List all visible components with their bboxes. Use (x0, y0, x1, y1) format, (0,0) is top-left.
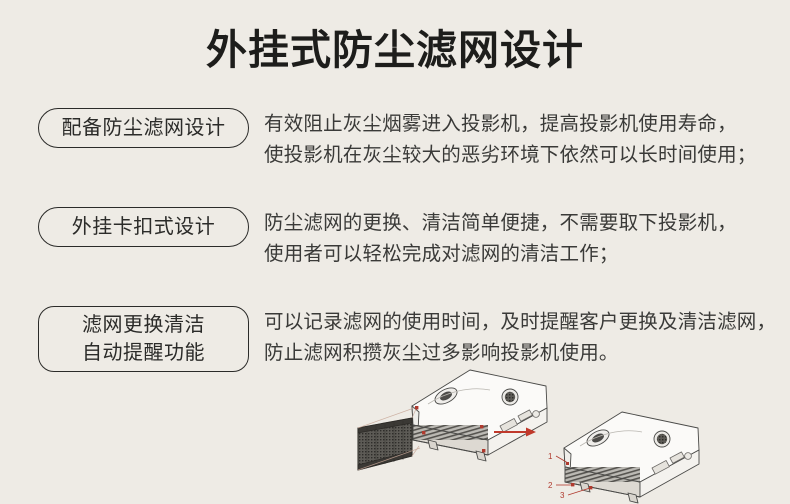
feature-list: 配备防尘滤网设计 有效阻止灰尘烟雾进入投影机，提高投影机使用寿命， 使投影机在灰… (0, 108, 790, 372)
left-projector (412, 370, 547, 461)
feature-text-line: 使投影机在灰尘较大的恶劣环境下依然可以长时间使用； (264, 140, 790, 171)
feature-text-line: 可以记录滤网的使用时间，及时提醒客户更换及清洁滤网， (264, 307, 790, 338)
feature-label-badge-1: 配备防尘滤网设计 (38, 108, 249, 148)
feature-text-line: 防尘滤网的更换、清洁简单便捷，不需要取下投影机， (264, 208, 790, 239)
page-title: 外挂式防尘滤网设计 (0, 26, 790, 74)
projector-illustration: 1 2 3 (350, 352, 790, 504)
right-projector (564, 412, 699, 503)
feature-label-badge-2: 外挂卡扣式设计 (38, 207, 249, 247)
feature-row: 外挂卡扣式设计 防尘滤网的更换、清洁简单便捷，不需要取下投影机， 使用者可以轻松… (0, 207, 790, 270)
projector-diagram-svg: 1 2 3 (350, 352, 790, 504)
page-root: 外挂式防尘滤网设计 配备防尘滤网设计 有效阻止灰尘烟雾进入投影机，提高投影机使用… (0, 0, 790, 504)
callout-number: 1 (548, 452, 553, 461)
feature-text-line: 有效阻止灰尘烟雾进入投影机，提高投影机使用寿命， (264, 109, 790, 140)
feature-label-badge-3: 滤网更换清洁 自动提醒功能 (38, 306, 249, 372)
feature-label-line: 自动提醒功能 (82, 339, 205, 367)
feature-row: 配备防尘滤网设计 有效阻止灰尘烟雾进入投影机，提高投影机使用寿命， 使投影机在灰… (0, 108, 790, 171)
feature-text-line: 使用者可以轻松完成对滤网的清洁工作； (264, 239, 790, 270)
dust-filter-panel (358, 418, 412, 470)
feature-label-line: 外挂卡扣式设计 (72, 213, 216, 241)
callout-number: 2 (548, 481, 553, 490)
feature-label-line: 配备防尘滤网设计 (62, 114, 226, 142)
feature-description-1: 有效阻止灰尘烟雾进入投影机，提高投影机使用寿命， 使投影机在灰尘较大的恶劣环境下… (264, 108, 790, 171)
callout-number: 3 (560, 491, 565, 500)
feature-description-2: 防尘滤网的更换、清洁简单便捷，不需要取下投影机， 使用者可以轻松完成对滤网的清洁… (264, 207, 790, 270)
feature-label-line: 滤网更换清洁 (82, 311, 205, 339)
